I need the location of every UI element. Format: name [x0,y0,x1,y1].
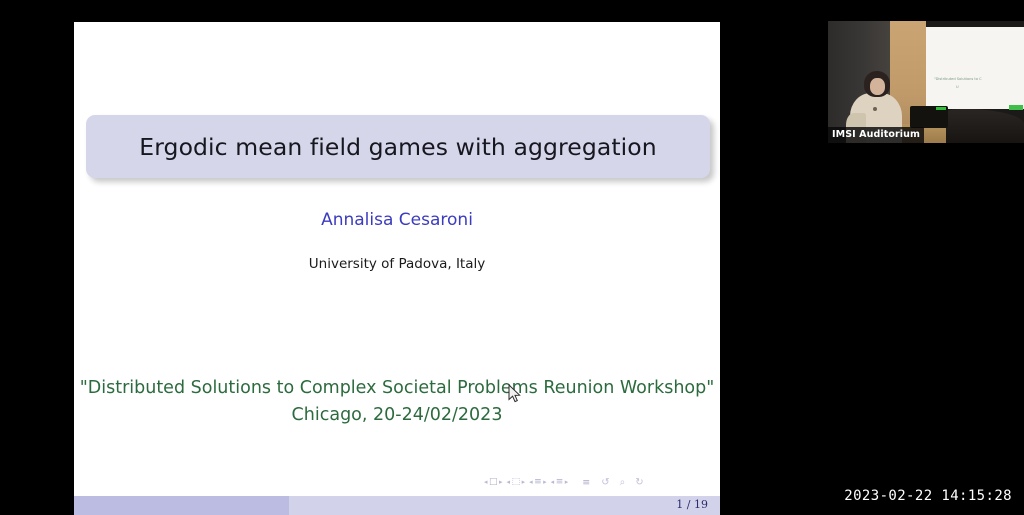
nav-slide-group[interactable]: ◂ □ ▸ [484,478,503,487]
nav-subsection-icon[interactable]: ≡ [534,478,542,487]
slide-affiliation: University of Padova, Italy [74,256,720,272]
video-monitor-led-icon [936,107,946,110]
beamer-navigation-symbols[interactable]: ◂ □ ▸ ◂ ⬚ ▸ ◂ ≡ ▸ ◂ ≡ ▸ ≡ ↺ ⌕ ↻ [484,474,696,490]
nav-presentation-icon[interactable]: ≡ [582,477,590,488]
slide-footer-bar: 1 / 19 [74,496,720,515]
nav-frame-prev-icon[interactable]: ◂ [507,479,511,486]
nav-frame-icon[interactable]: ⬚ [512,478,521,487]
nav-forward-icon[interactable]: ↻ [635,477,642,488]
nav-section-icon[interactable]: ≡ [556,478,564,487]
slide-workshop-title: "Distributed Solutions to Complex Societ… [74,378,720,398]
nav-back-icon[interactable]: ↺ [601,477,608,488]
video-screen-text-line1: "Distributed Solutions to C [934,77,1024,81]
speaker-video-feed[interactable]: "Distributed Solutions to C U IMSI Audit… [828,21,1024,143]
nav-subsection-next-icon[interactable]: ▸ [543,479,547,486]
slide-progress-indicator [74,496,289,515]
video-location-label: IMSI Auditorium [828,127,924,143]
video-speaker-microphone [873,107,877,111]
nav-slide-icon[interactable]: □ [489,478,498,487]
nav-frame-next-icon[interactable]: ▸ [522,479,526,486]
nav-frame-group[interactable]: ◂ ⬚ ▸ [507,478,526,487]
video-projection-screen: "Distributed Solutions to C U [926,27,1024,109]
nav-subsection-prev-icon[interactable]: ◂ [529,479,533,486]
nav-section-group[interactable]: ◂ ≡ ▸ [551,478,569,487]
nav-slide-prev-icon[interactable]: ◂ [484,479,488,486]
recording-timestamp: 2023-02-22 14:15:28 [844,488,1012,504]
video-screen-led-icon [1009,105,1023,110]
page-number: 1 / 19 [676,498,708,511]
slide-author: Annalisa Cesaroni [74,210,720,230]
video-speaker-face [870,78,885,95]
slide-workshop-location-date: Chicago, 20-24/02/2023 [74,405,720,425]
nav-slide-next-icon[interactable]: ▸ [499,479,503,486]
slide-title-box: Ergodic mean field games with aggregatio… [86,115,710,178]
nav-subsection-group[interactable]: ◂ ≡ ▸ [529,478,547,487]
nav-section-prev-icon[interactable]: ◂ [551,479,555,486]
nav-section-next-icon[interactable]: ▸ [565,479,569,486]
slide-title: Ergodic mean field games with aggregatio… [139,133,657,161]
presentation-slide[interactable]: Ergodic mean field games with aggregatio… [74,22,720,515]
nav-search-icon[interactable]: ⌕ [620,477,625,488]
video-screen-text-line2: U [956,85,959,89]
